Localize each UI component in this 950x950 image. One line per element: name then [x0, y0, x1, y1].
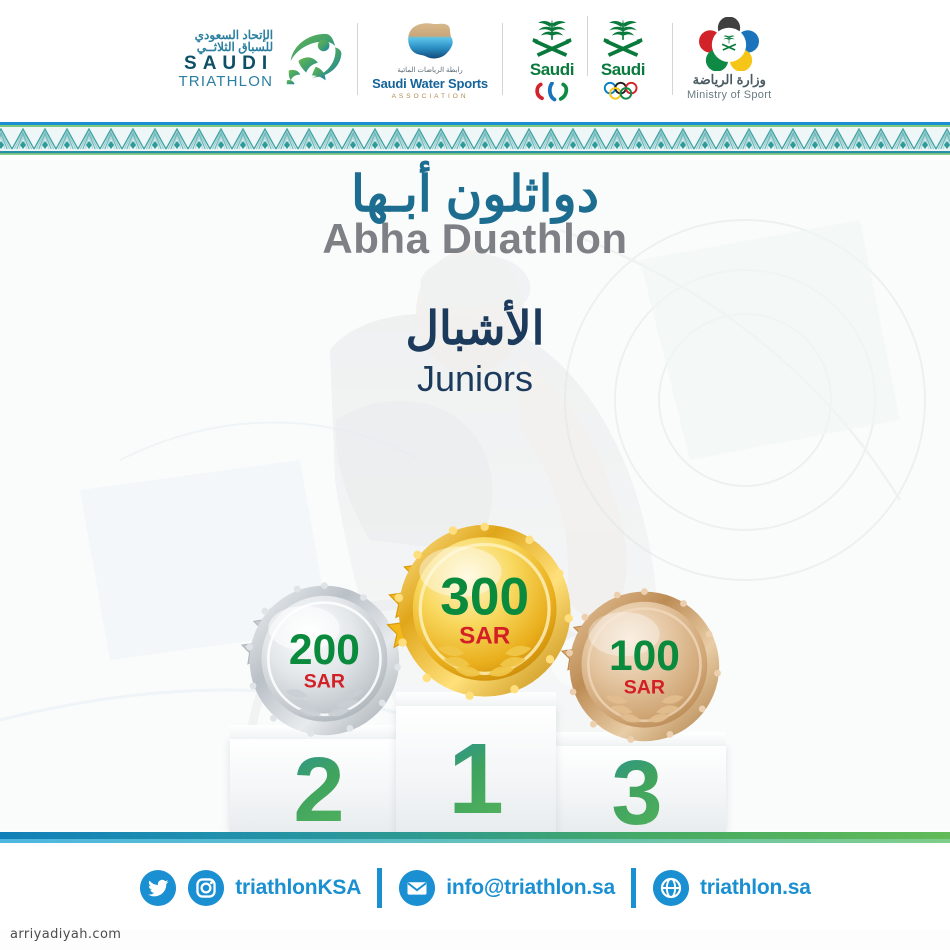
- podium-rank-1: 1: [396, 729, 556, 829]
- olympic-saudi-label: Saudi: [601, 60, 645, 80]
- logo-saudi-triathlon: الإتحاد السعودي للسباق الثلاثــي SAUDI T…: [164, 28, 357, 90]
- medal-gold-amount: 300: [440, 568, 529, 627]
- website-group[interactable]: triathlon.sa: [636, 869, 827, 907]
- podium-rank-3: 3: [548, 747, 726, 839]
- instagram-icon[interactable]: [187, 869, 225, 907]
- olympic-rings-icon: [600, 81, 646, 101]
- twitter-icon[interactable]: [139, 869, 177, 907]
- event-title-arabic: دواثلون أبـها: [0, 168, 950, 221]
- medal-silver-amount: 200: [289, 627, 360, 674]
- medal-silver: 200 SAR: [236, 572, 406, 742]
- website-text[interactable]: triathlon.sa: [700, 876, 811, 900]
- water-sports-english: Saudi Water Sports: [372, 76, 488, 91]
- ministry-english: Ministry of Sport: [687, 89, 772, 101]
- saudi-map-icon: [401, 18, 459, 64]
- category-title-english: Juniors: [0, 359, 950, 399]
- triathlon-runner-icon: [281, 28, 343, 90]
- medal-silver-currency: SAR: [304, 671, 345, 693]
- paralympic-agitos-icon: [533, 82, 571, 102]
- divider-gradient-bar-secondary: [0, 839, 950, 843]
- category-title-arabic: الأشبال: [0, 303, 950, 354]
- palm-swords-emblem-icon: [526, 16, 578, 62]
- logo-saudi-paralympic-committee: Saudi: [517, 16, 587, 102]
- social-handle-text[interactable]: triathlonKSA: [235, 876, 361, 900]
- footer-contact-bar: triathlonKSA info@triathlon.sa: [0, 846, 950, 930]
- podium-block-third: 3: [548, 745, 726, 833]
- logo-saudi-olympic-committee: Saudi: [588, 16, 658, 101]
- medal-gold-currency: SAR: [459, 622, 511, 649]
- podium-block-first: 1: [396, 705, 556, 833]
- event-title-english: Abha Duathlon: [0, 217, 950, 261]
- email-text[interactable]: info@triathlon.sa: [446, 876, 615, 900]
- header-logo-bar: الإتحاد السعودي للسباق الثلاثــي SAUDI T…: [0, 0, 950, 118]
- saudi-triathlon-english-line1: SAUDI: [178, 54, 273, 74]
- saudi-triathlon-english-line2: TRIATHLON: [178, 74, 273, 90]
- email-icon[interactable]: [398, 869, 436, 907]
- title-block: دواثلون أبـها Abha Duathlon الأشبال Juni…: [0, 168, 950, 399]
- medal-bronze: 100 SAR: [556, 578, 726, 748]
- medal-bronze-currency: SAR: [624, 677, 665, 699]
- water-sports-subtitle: ASSOCIATION: [392, 93, 469, 100]
- divider-gradient-bar: [0, 832, 950, 839]
- medal-bronze-amount: 100: [609, 633, 680, 680]
- logo-ministry-of-sport: وزارة الرياضة Ministry of Sport: [673, 17, 786, 101]
- palm-swords-emblem-icon: [597, 16, 649, 62]
- podium-rank-2: 2: [230, 744, 408, 836]
- source-watermark: arriyadiyah.com: [10, 927, 121, 942]
- logo-saudi-committees: Saudi: [503, 16, 672, 102]
- globe-icon[interactable]: [652, 869, 690, 907]
- water-sports-arabic: رابطة الرياضات المائية: [397, 66, 462, 74]
- email-group[interactable]: info@triathlon.sa: [382, 869, 631, 907]
- paralympic-saudi-label: Saudi: [530, 60, 574, 80]
- podium: 200 SAR: [0, 500, 950, 840]
- logo-saudi-water-sports: رابطة الرياضات المائية Saudi Water Sport…: [358, 18, 502, 100]
- footer-divider: [0, 832, 950, 844]
- ministry-arabic: وزارة الرياضة: [693, 72, 766, 88]
- podium-block-second: 2: [230, 738, 408, 833]
- poster-root: الإتحاد السعودي للسباق الثلاثــي SAUDI T…: [0, 0, 950, 950]
- saudi-triathlon-arabic-line2: للسباق الثلاثــي: [178, 41, 273, 54]
- social-group[interactable]: triathlonKSA: [123, 869, 377, 907]
- decorative-pattern-border: [0, 118, 950, 160]
- medal-gold: 300 SAR: [382, 510, 578, 706]
- ministry-flower-emblem-icon: [699, 17, 759, 71]
